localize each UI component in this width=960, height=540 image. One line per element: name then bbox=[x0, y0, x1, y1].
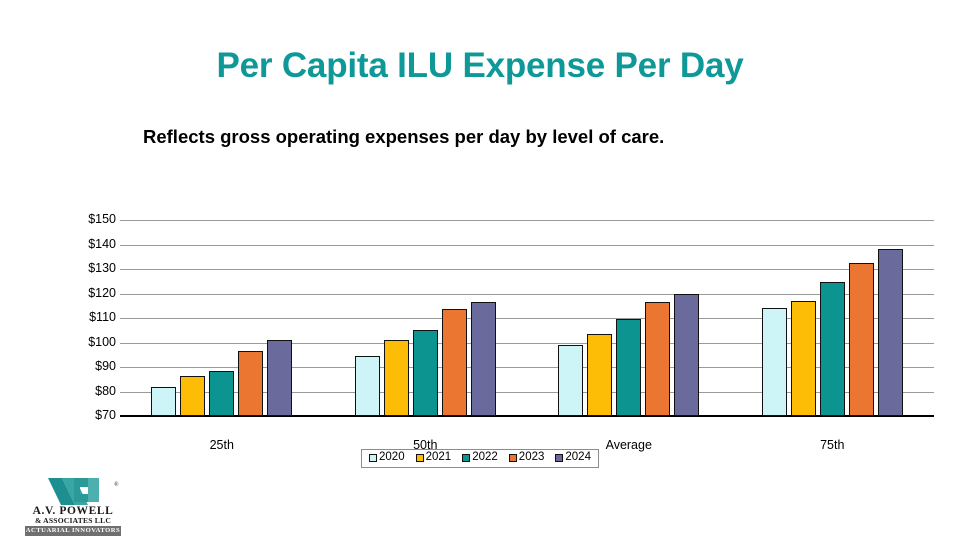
legend-label: 2021 bbox=[426, 452, 452, 464]
legend-item-2022[interactable]: 2022 bbox=[462, 452, 498, 464]
legend-item-2020[interactable]: 2020 bbox=[369, 452, 405, 464]
bar-group bbox=[558, 220, 699, 416]
bar-2020-25th[interactable] bbox=[151, 387, 176, 416]
chart-plot-area: $150$140$130$120$110$100$90$80$7025th50t… bbox=[120, 220, 934, 416]
legend-swatch-icon bbox=[416, 454, 424, 462]
bar-2024-75th[interactable] bbox=[878, 249, 903, 416]
y-axis-tick-label: $80 bbox=[56, 385, 116, 398]
legend-label: 2023 bbox=[519, 452, 545, 464]
page-subtitle: Reflects gross operating expenses per da… bbox=[143, 126, 664, 148]
bar-2023-75th[interactable] bbox=[849, 263, 874, 416]
bar-2021-25th[interactable] bbox=[180, 376, 205, 416]
y-axis-tick-label: $120 bbox=[56, 287, 116, 300]
legend-swatch-icon bbox=[462, 454, 470, 462]
bar-2024-average[interactable] bbox=[674, 294, 699, 417]
x-axis-category-label: 75th bbox=[731, 438, 935, 452]
bar-2021-average[interactable] bbox=[587, 334, 612, 416]
bar-2021-75th[interactable] bbox=[791, 301, 816, 416]
avp-monogram-icon: ® bbox=[25, 478, 121, 505]
y-axis-tick-label: $150 bbox=[56, 213, 116, 226]
slide-canvas: Per Capita ILU Expense Per Day Reflects … bbox=[0, 0, 960, 540]
bar-2022-50th[interactable] bbox=[413, 330, 438, 416]
bar-2023-50th[interactable] bbox=[442, 309, 467, 416]
bar-2024-50th[interactable] bbox=[471, 302, 496, 416]
bar-group bbox=[762, 220, 903, 416]
bar-2024-25th[interactable] bbox=[267, 340, 292, 416]
legend-swatch-icon bbox=[509, 454, 517, 462]
bar-2020-75th[interactable] bbox=[762, 308, 787, 416]
bar-2022-average[interactable] bbox=[616, 319, 641, 416]
y-axis-tick-label: $110 bbox=[56, 311, 116, 324]
bar-2023-average[interactable] bbox=[645, 302, 670, 416]
legend-item-2024[interactable]: 2024 bbox=[555, 452, 591, 464]
y-axis-tick-label: $130 bbox=[56, 262, 116, 275]
page-title: Per Capita ILU Expense Per Day bbox=[0, 46, 960, 86]
legend-swatch-icon bbox=[555, 454, 563, 462]
bar-chart: $150$140$130$120$110$100$90$80$7025th50t… bbox=[70, 205, 890, 430]
x-axis-category-label: 25th bbox=[120, 438, 324, 452]
bar-group bbox=[355, 220, 496, 416]
y-axis-tick-label: $70 bbox=[56, 409, 116, 422]
legend-label: 2022 bbox=[472, 452, 498, 464]
bar-2022-25th[interactable] bbox=[209, 371, 234, 416]
bar-2020-average[interactable] bbox=[558, 345, 583, 416]
bar-2021-50th[interactable] bbox=[384, 340, 409, 416]
logo-tagline: ACTUARIAL INNOVATORS bbox=[25, 526, 121, 536]
y-axis-tick-label: $100 bbox=[56, 336, 116, 349]
bar-2023-25th[interactable] bbox=[238, 351, 263, 416]
bar-2022-75th[interactable] bbox=[820, 282, 845, 416]
company-logo: ® A.V. POWELL & ASSOCIATES LLC ACTUARIAL… bbox=[25, 478, 121, 528]
legend-label: 2020 bbox=[379, 452, 405, 464]
bar-group bbox=[151, 220, 292, 416]
legend-swatch-icon bbox=[369, 454, 377, 462]
svg-text:®: ® bbox=[114, 481, 119, 488]
y-axis-tick-label: $90 bbox=[56, 360, 116, 373]
legend-item-2021[interactable]: 2021 bbox=[416, 452, 452, 464]
legend-item-2023[interactable]: 2023 bbox=[509, 452, 545, 464]
chart-legend[interactable]: 20202021202220232024 bbox=[361, 449, 599, 468]
bar-2020-50th[interactable] bbox=[355, 356, 380, 416]
logo-company-suffix: & ASSOCIATES LLC bbox=[25, 517, 121, 525]
y-axis-tick-label: $140 bbox=[56, 238, 116, 251]
legend-label: 2024 bbox=[565, 452, 591, 464]
